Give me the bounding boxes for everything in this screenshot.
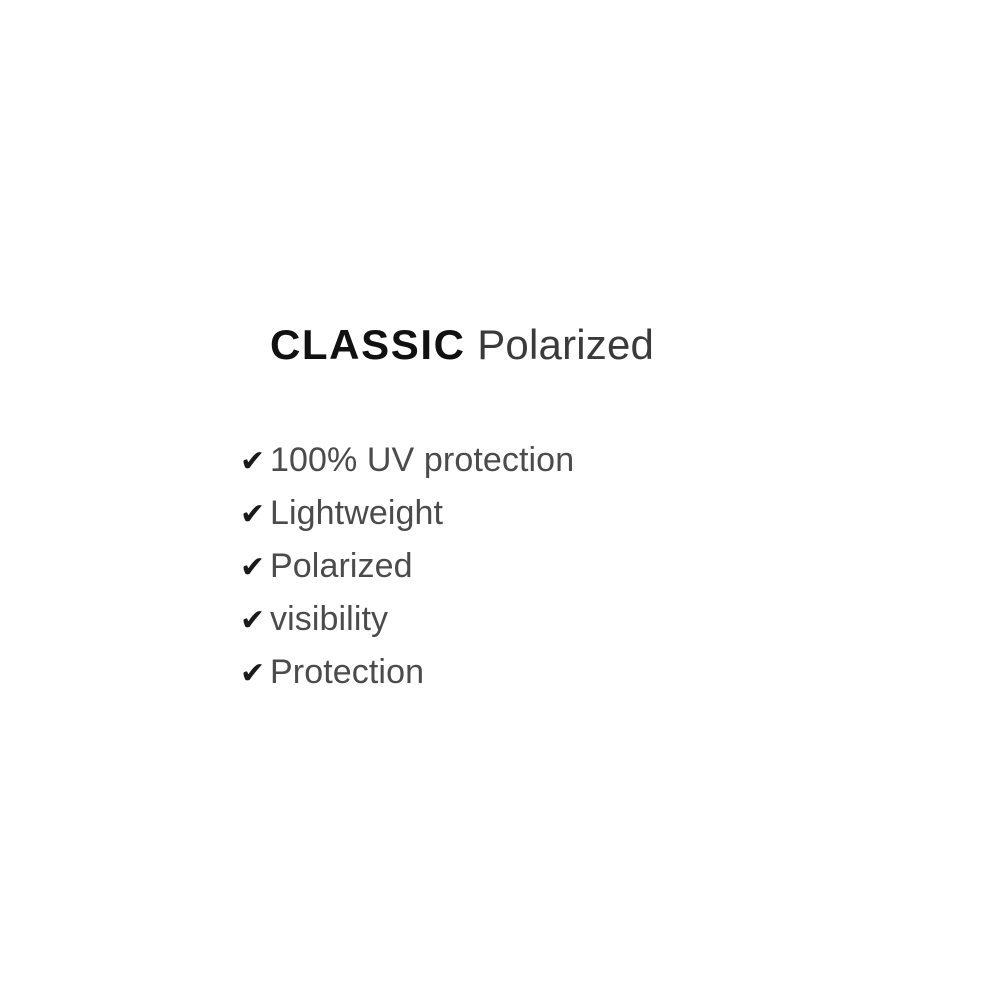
list-item: ✔ Protection (240, 652, 574, 705)
page-title: CLASSIC Polarized (270, 322, 654, 367)
list-item: ✔ 100% UV protection (240, 440, 574, 493)
feature-label: Protection (270, 652, 424, 692)
list-item: ✔ Polarized (240, 546, 574, 599)
product-description-page: CLASSIC Polarized ✔ 100% UV protection ✔… (0, 0, 1000, 1000)
check-icon: ✔ (240, 442, 270, 482)
list-item: ✔ Lightweight (240, 493, 574, 546)
check-icon: ✔ (240, 495, 270, 535)
feature-label: 100% UV protection (270, 440, 574, 480)
list-item: ✔ visibility (240, 599, 574, 652)
feature-label: visibility (270, 599, 388, 639)
product-title-separator (466, 321, 478, 368)
check-icon: ✔ (240, 654, 270, 694)
product-title-model: Polarized (477, 321, 654, 368)
check-icon: ✔ (240, 548, 270, 588)
feature-list: ✔ 100% UV protection ✔ Lightweight ✔ Pol… (240, 440, 574, 705)
product-title-brand: CLASSIC (270, 321, 466, 368)
feature-label: Lightweight (270, 493, 443, 533)
feature-label: Polarized (270, 546, 413, 586)
check-icon: ✔ (240, 601, 270, 641)
